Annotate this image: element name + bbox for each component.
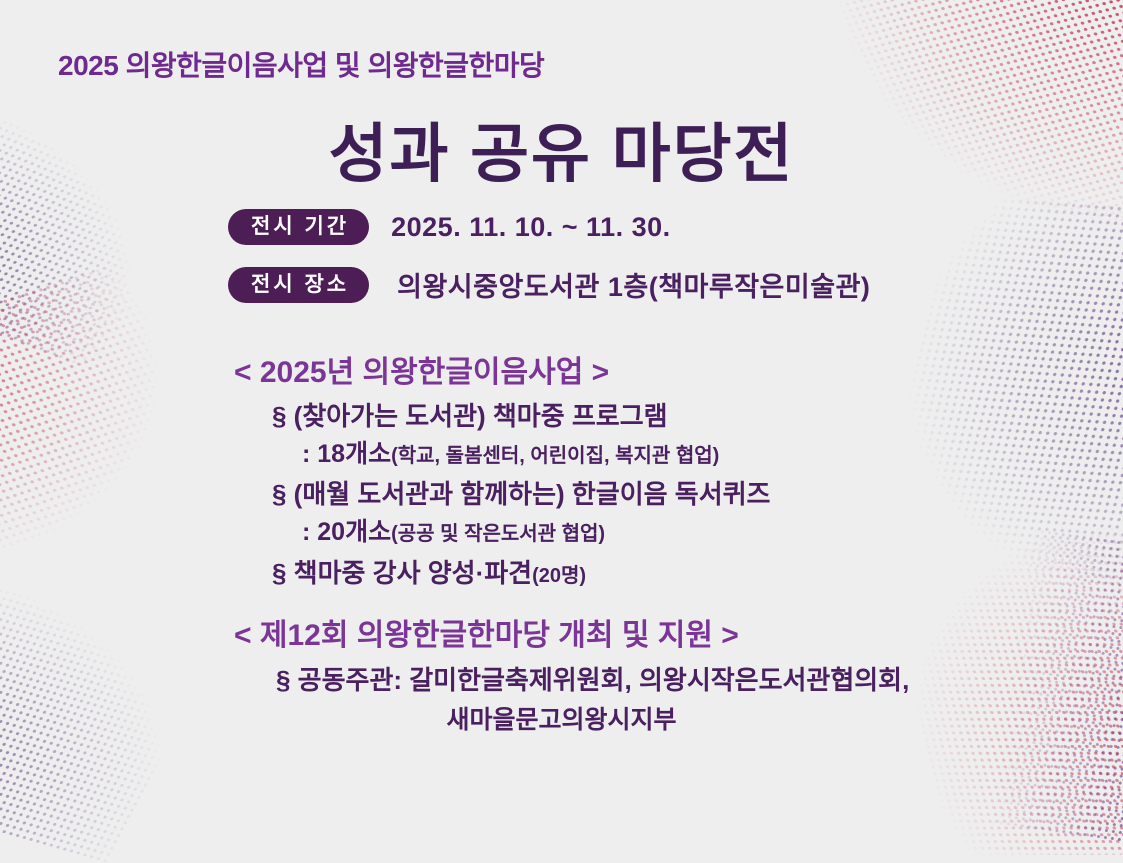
detail-count-20: : 20개소	[302, 518, 391, 546]
bullet-co-organizers: § 공동주관: 갈미한글축제위원회, 의왕시작은도서관협의회,	[276, 660, 909, 697]
detail-partners-18: (학교, 돌봄센터, 어린이집, 복지관 협업)	[391, 445, 719, 467]
exhibition-venue-value: 의왕시중앙도서관 1층(책마루작은미술관)	[397, 265, 870, 304]
exhibition-period-label-badge: 전시 기간	[228, 209, 369, 245]
bullet-instructor-text: § 책마중 강사 양성·파견	[272, 558, 532, 588]
section-heading-hangeul-ieum-project: < 2025년 의왕한글이음사업 >	[234, 347, 609, 391]
exhibition-period-value: 2025. 11. 10. ~ 11. 30.	[391, 212, 671, 243]
detail-count-18: : 18개소	[302, 440, 391, 468]
exhibition-venue-label-badge: 전시 장소	[228, 267, 369, 303]
detail-partners-20: (공공 및 작은도서관 협업)	[391, 523, 605, 545]
bullet-instructor-count: (20명)	[532, 565, 586, 587]
section-heading-12th-hangeul-hanmadang: < 제12회 의왕한글한마당 개최 및 지원 >	[234, 610, 739, 654]
bullet-co-organizers-continued: 새마을문고의왕시지부	[0, 700, 1123, 736]
poster-main-title: 성과 공유 마당전	[0, 103, 1123, 195]
exhibition-venue-row: 전시 장소 의왕시중앙도서관 1층(책마루작은미술관)	[228, 265, 870, 304]
poster-content: 2025 의왕한글이음사업 및 의왕한글한마당 성과 공유 마당전 전시 기간 …	[0, 0, 1123, 794]
exhibition-period-row: 전시 기간 2025. 11. 10. ~ 11. 30.	[228, 209, 671, 245]
bullet-visiting-library-program: § (찾아가는 도서관) 책마중 프로그램	[272, 396, 668, 433]
detail-reading-quiz-sites: : 20개소(공공 및 작은도서관 협업)	[302, 512, 605, 548]
bullet-instructor-training-dispatch: § 책마중 강사 양성·파견(20명)	[272, 553, 586, 590]
bullet-monthly-reading-quiz: § (매월 도서관과 함께하는) 한글이음 독서퀴즈	[272, 474, 770, 511]
poster-header-line: 2025 의왕한글이음사업 및 의왕한글한마당	[58, 44, 544, 84]
detail-visiting-library-sites: : 18개소(학교, 돌봄센터, 어린이집, 복지관 협업)	[302, 434, 719, 470]
